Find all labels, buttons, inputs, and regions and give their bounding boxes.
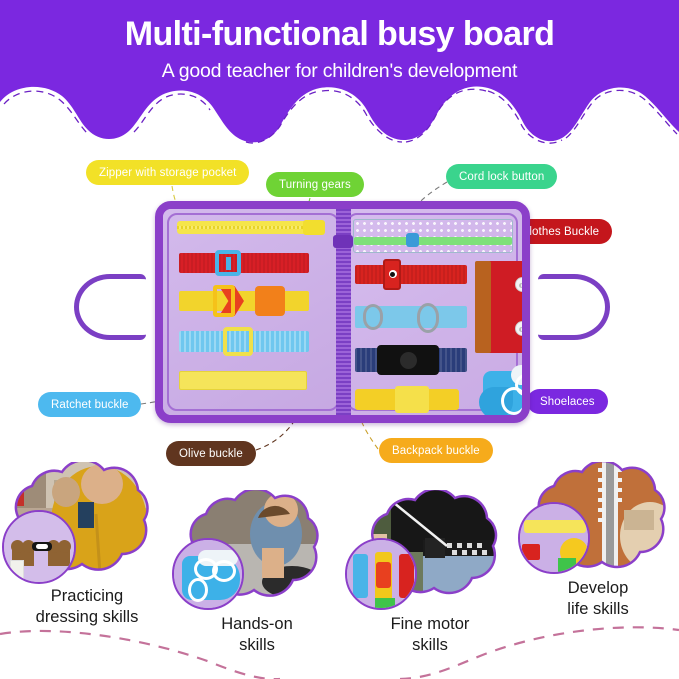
navy-strap-round-buckle <box>355 348 467 372</box>
inset-photo-buckles <box>345 538 417 610</box>
callout-olive-buckle[interactable]: Olive buckle <box>166 441 256 466</box>
red-belt-blue-buckle <box>179 253 309 273</box>
inset-photo-zipper-gear <box>518 502 590 574</box>
carry-handle-right <box>538 274 610 340</box>
benefit-card-life-skills: Develop life skills <box>518 462 679 622</box>
blue-shoe-with-shoelaces <box>479 361 531 423</box>
callout-cord-lock-button[interactable]: Cord lock button <box>446 164 557 189</box>
red-strap-cord-lock <box>355 265 467 284</box>
center-spine-zipper <box>336 209 351 415</box>
zipper-slider <box>333 235 353 248</box>
bottom-decorative-curve <box>0 612 679 679</box>
blue-strap-carabiners <box>355 306 467 328</box>
inset-photo-shoelace <box>172 538 244 610</box>
blue-ratchet-buckle <box>179 331 309 352</box>
callout-zipper-with-storage-pocket[interactable]: Zipper with storage pocket <box>86 160 249 185</box>
yellow-red-clasp-buckle <box>179 291 309 311</box>
mesh-storage-pocket <box>353 219 513 253</box>
red-cloth-white-buttons <box>485 261 531 353</box>
page-subtitle: A good teacher for children's developmen… <box>0 60 679 83</box>
yellow-backpack-buckle <box>355 389 459 410</box>
board-open-view <box>155 201 530 423</box>
callout-backpack-buckle[interactable]: Backpack buckle <box>379 438 493 463</box>
board-right-panel <box>343 209 523 415</box>
infographic-page: Multi-functional busy board A good teach… <box>0 0 679 679</box>
carry-handle-left <box>74 274 146 340</box>
product-photo-busy-board <box>62 196 622 426</box>
page-title: Multi-functional busy board <box>0 14 679 54</box>
yellow-velcro-strip <box>179 371 307 390</box>
scalloped-divider <box>0 82 679 150</box>
yellow-zipper <box>177 221 317 234</box>
board-left-panel <box>163 209 343 415</box>
inset-photo-heart-buckle <box>2 510 76 584</box>
benefit-card-dressing: Practicing dressing skills <box>2 462 167 622</box>
callout-turning-gears[interactable]: Turning gears <box>266 172 364 197</box>
